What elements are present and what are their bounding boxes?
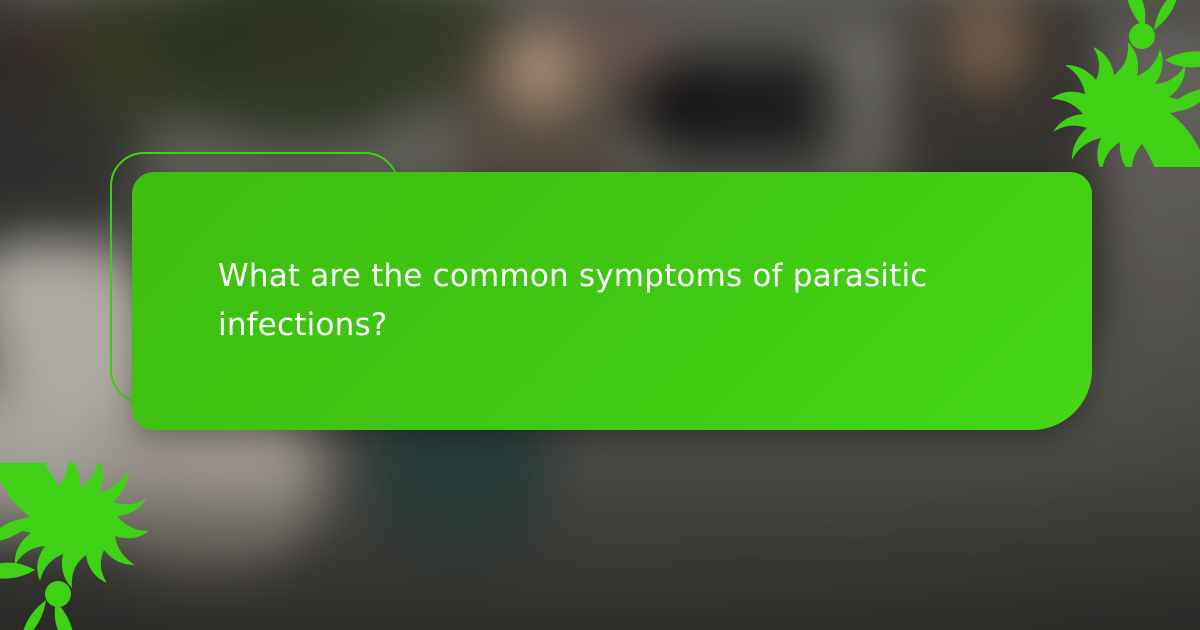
headline-callout-inner: What are the common symptoms of parasiti… xyxy=(132,252,1092,350)
headline-text: What are the common symptoms of parasiti… xyxy=(218,252,988,350)
headline-callout-card: What are the common symptoms of parasiti… xyxy=(132,172,1092,430)
share-card: What are the common symptoms of parasiti… xyxy=(0,0,1200,630)
